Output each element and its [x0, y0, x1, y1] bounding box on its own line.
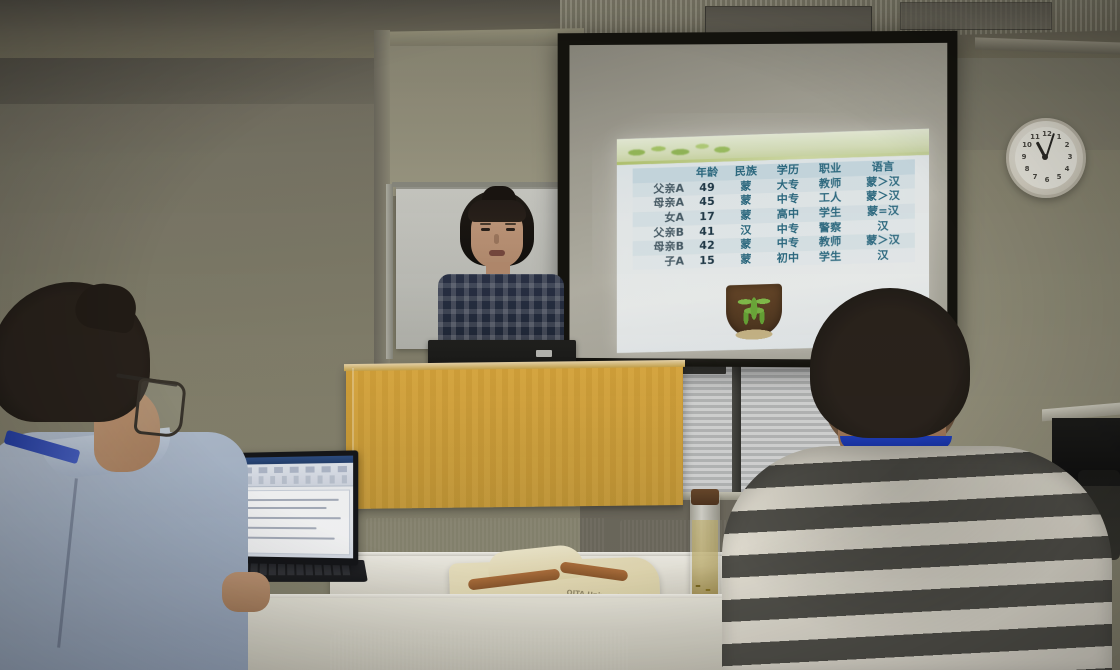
clock-numeral: 5 — [1054, 173, 1064, 181]
clock-numeral: 3 — [1065, 153, 1075, 161]
presenter-nose — [494, 234, 499, 244]
column-header-occupation: 职业 — [809, 161, 851, 177]
cell-age: 41 — [689, 224, 725, 240]
presenter-eye — [481, 228, 490, 231]
cell-education: 中专 — [767, 192, 809, 208]
cell-age: 17 — [689, 209, 725, 225]
audience-member-right — [700, 288, 1120, 670]
presentation-room-photo: 12 1 2 3 4 5 6 7 8 9 10 11 — [0, 0, 1120, 670]
cell-occupation: 学生 — [809, 250, 851, 266]
leaf-decoration-icon — [621, 137, 746, 163]
cell-ethnicity: 蒙 — [725, 252, 767, 268]
glasses-lens-icon — [133, 378, 187, 439]
column-header-age: 年龄 — [689, 166, 725, 182]
cell-age: 49 — [689, 180, 725, 196]
row-label: 子A — [633, 254, 690, 270]
clock-numeral: 2 — [1062, 141, 1072, 149]
presenter — [424, 190, 584, 370]
cell-education: 高中 — [767, 207, 809, 223]
whiteboard-post — [386, 184, 393, 359]
ceiling-vent — [900, 2, 1052, 30]
cell-education: 中专 — [767, 236, 809, 252]
wooden-podium — [346, 363, 683, 509]
cell-age: 45 — [689, 195, 725, 211]
cell-occupation: 教师 — [809, 235, 851, 251]
column-header-ethnicity: 民族 — [725, 164, 767, 180]
cell-occupation: 工人 — [809, 191, 851, 207]
clock-numeral: 4 — [1062, 165, 1072, 173]
cell-occupation: 警察 — [809, 220, 851, 236]
laptop-badge — [536, 350, 552, 357]
clock-numeral: 9 — [1019, 153, 1029, 161]
cell-ethnicity: 蒙 — [725, 193, 767, 209]
cell-ethnicity: 蒙 — [725, 179, 767, 195]
row-label: 母亲B — [633, 240, 690, 256]
slide-data-table: 年龄 民族 学历 职业 语言 父亲A 49 蒙 大专 — [633, 159, 915, 270]
cell-education: 大专 — [767, 177, 809, 193]
clock-numeral: 11 — [1030, 133, 1040, 141]
cell-ethnicity: 蒙 — [725, 208, 767, 224]
clock-center-pin — [1042, 154, 1048, 160]
presenter-eye — [506, 228, 515, 231]
presenter-fringe — [468, 200, 526, 222]
column-header-education: 学历 — [767, 163, 809, 179]
left-person-hand — [222, 572, 270, 612]
cell-education: 中专 — [767, 221, 809, 237]
cell-education: 初中 — [767, 251, 809, 267]
cell-language: 汉 — [851, 248, 915, 265]
right-person-hair — [810, 288, 970, 438]
wall-clock: 12 1 2 3 4 5 6 7 8 9 10 11 — [1006, 118, 1086, 198]
audience-member-left — [0, 282, 240, 670]
clock-numeral: 7 — [1030, 173, 1040, 181]
cell-age: 42 — [689, 239, 725, 255]
clock-numeral: 10 — [1022, 141, 1032, 149]
chair-back — [330, 630, 630, 670]
whiteboard-rail — [392, 182, 578, 187]
presenter-eyebrow — [505, 223, 516, 225]
clock-numeral: 6 — [1042, 176, 1052, 184]
presenter-eyebrow — [480, 223, 491, 225]
cell-occupation: 学生 — [809, 205, 851, 221]
clock-numeral: 1 — [1054, 133, 1064, 141]
cell-ethnicity: 蒙 — [725, 237, 767, 253]
shoulder-shading — [722, 446, 1112, 670]
cell-age: 15 — [689, 253, 725, 269]
presenter-mouth — [489, 250, 505, 256]
clock-numeral: 12 — [1042, 130, 1052, 138]
door-recess — [388, 46, 564, 196]
cell-ethnicity: 汉 — [725, 223, 767, 239]
clock-numeral: 8 — [1022, 165, 1032, 173]
cell-occupation: 教师 — [809, 176, 851, 192]
